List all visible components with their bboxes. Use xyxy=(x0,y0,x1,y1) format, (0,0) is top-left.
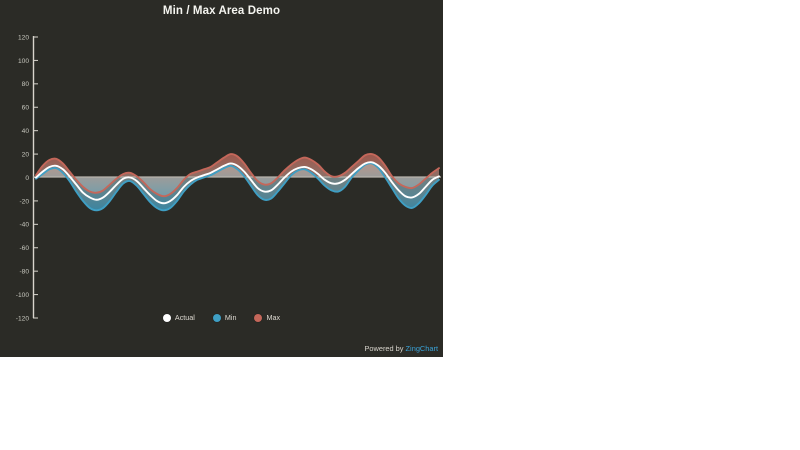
svg-text:80: 80 xyxy=(22,81,30,88)
chart-areas xyxy=(36,154,439,210)
svg-text:60: 60 xyxy=(22,105,30,112)
powered-by-footer[interactable]: Powered by ZingChart xyxy=(364,344,438,353)
legend-label-max: Max xyxy=(266,313,280,322)
chart-legend[interactable]: Actual Min Max xyxy=(0,313,443,322)
legend-marker-actual-icon xyxy=(163,314,171,322)
svg-text:-60: -60 xyxy=(19,245,29,252)
powered-by-text: Powered by xyxy=(364,344,405,353)
legend-marker-max-icon xyxy=(254,314,262,322)
svg-text:0: 0 xyxy=(25,175,29,182)
y-axis-tick-labels: 120100806040200-20-40-60-80-100-120 xyxy=(16,34,30,322)
legend-label-min: Min xyxy=(225,313,237,322)
zingchart-widget: Min / Max Area Demo 120100806040200-20-4… xyxy=(0,0,443,357)
zingchart-link[interactable]: ZingChart xyxy=(406,344,438,353)
legend-item-min[interactable]: Min xyxy=(213,313,237,322)
svg-text:-80: -80 xyxy=(19,269,29,276)
svg-text:-100: -100 xyxy=(16,292,30,299)
svg-text:120: 120 xyxy=(18,34,29,41)
legend-item-actual[interactable]: Actual xyxy=(163,313,195,322)
svg-text:-40: -40 xyxy=(19,222,29,229)
legend-label-actual: Actual xyxy=(175,313,195,322)
svg-text:40: 40 xyxy=(22,128,30,135)
svg-text:20: 20 xyxy=(22,151,30,158)
svg-text:-20: -20 xyxy=(19,198,29,205)
svg-text:100: 100 xyxy=(18,58,29,65)
legend-item-max[interactable]: Max xyxy=(254,313,280,322)
legend-marker-min-icon xyxy=(213,314,221,322)
chart-plot[interactable]: 120100806040200-20-40-60-80-100-120 xyxy=(0,0,443,357)
